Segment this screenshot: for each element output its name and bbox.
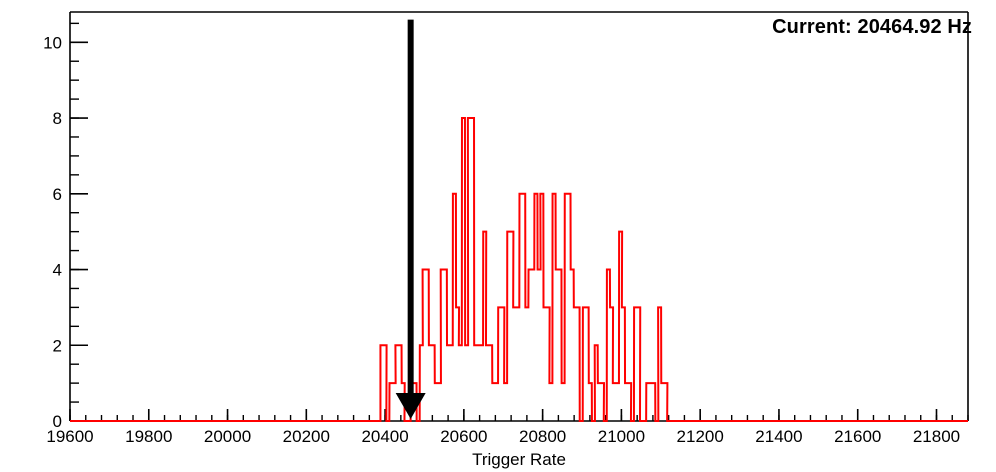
- y-axis-tick-label: 4: [53, 261, 62, 280]
- histogram-canvas: 1960019800200002020020400206002080021000…: [0, 0, 996, 472]
- y-axis-tick-label: 0: [53, 412, 62, 431]
- x-axis-tick-label: 20600: [440, 427, 487, 446]
- current-rate-readout: Current: 20464.92 Hz: [772, 16, 972, 39]
- x-axis-tick-label: 21600: [834, 427, 881, 446]
- x-axis-tick-label: 20200: [283, 427, 330, 446]
- x-axis-tick-label: 20000: [204, 427, 251, 446]
- x-axis-title: Trigger Rate: [472, 450, 566, 469]
- y-axis-tick-label: 6: [53, 185, 62, 204]
- trigger-rate-histogram[interactable]: 1960019800200002020020400206002080021000…: [0, 0, 996, 472]
- x-axis-tick-label: 21400: [755, 427, 802, 446]
- x-axis-tick-label: 19800: [125, 427, 172, 446]
- y-axis-tick-label: 2: [53, 336, 62, 355]
- x-axis-tick-label: 20800: [519, 427, 566, 446]
- x-axis-tick-label: 21000: [598, 427, 645, 446]
- root-canvas-frame: 1960019800200002020020400206002080021000…: [0, 0, 996, 472]
- x-axis-tick-label: 21800: [913, 427, 960, 446]
- histogram-step-outline[interactable]: [70, 118, 968, 421]
- x-axis-tick-label: 20400: [361, 427, 408, 446]
- y-axis-tick-label: 8: [53, 109, 62, 128]
- x-axis-tick-label: 21200: [677, 427, 724, 446]
- y-axis-tick-label: 10: [43, 33, 62, 52]
